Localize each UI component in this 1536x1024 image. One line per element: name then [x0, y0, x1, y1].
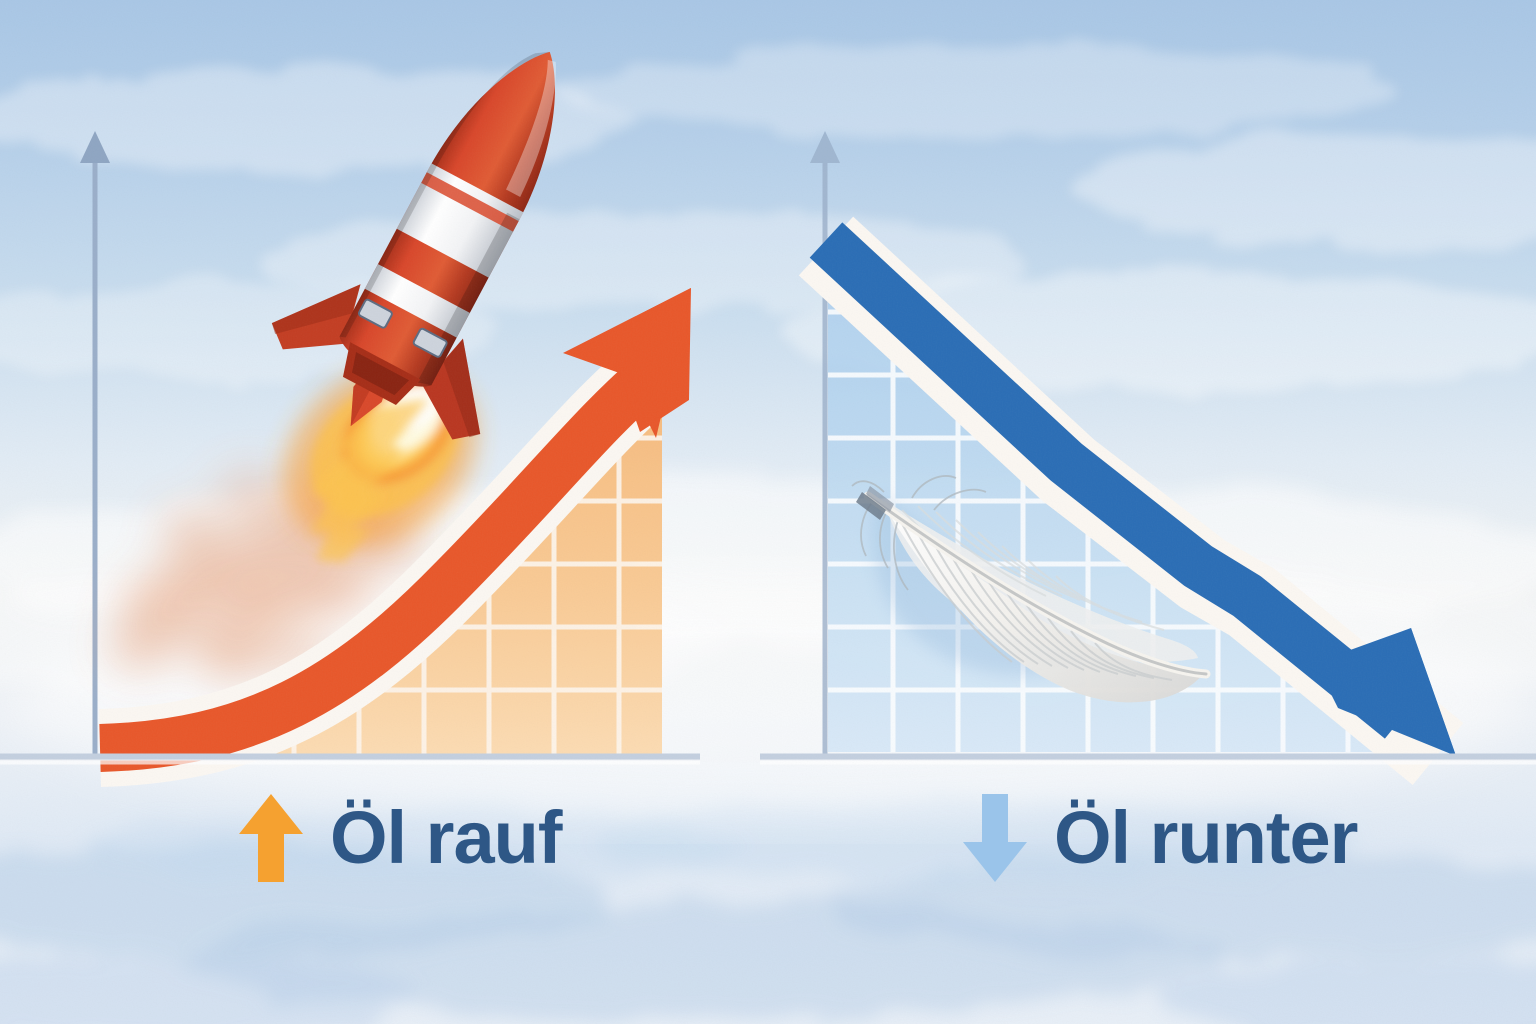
oil-down-label: Öl runter [962, 792, 1357, 884]
arrow-up-icon [238, 792, 304, 884]
illustration-canvas: Öl rauf Öl runter [0, 0, 1536, 1024]
oil-up-label: Öl rauf [238, 792, 561, 884]
oil-up-label-text: Öl rauf [330, 801, 561, 875]
arrow-down-icon [962, 792, 1028, 884]
oil-down-label-text: Öl runter [1054, 801, 1357, 875]
